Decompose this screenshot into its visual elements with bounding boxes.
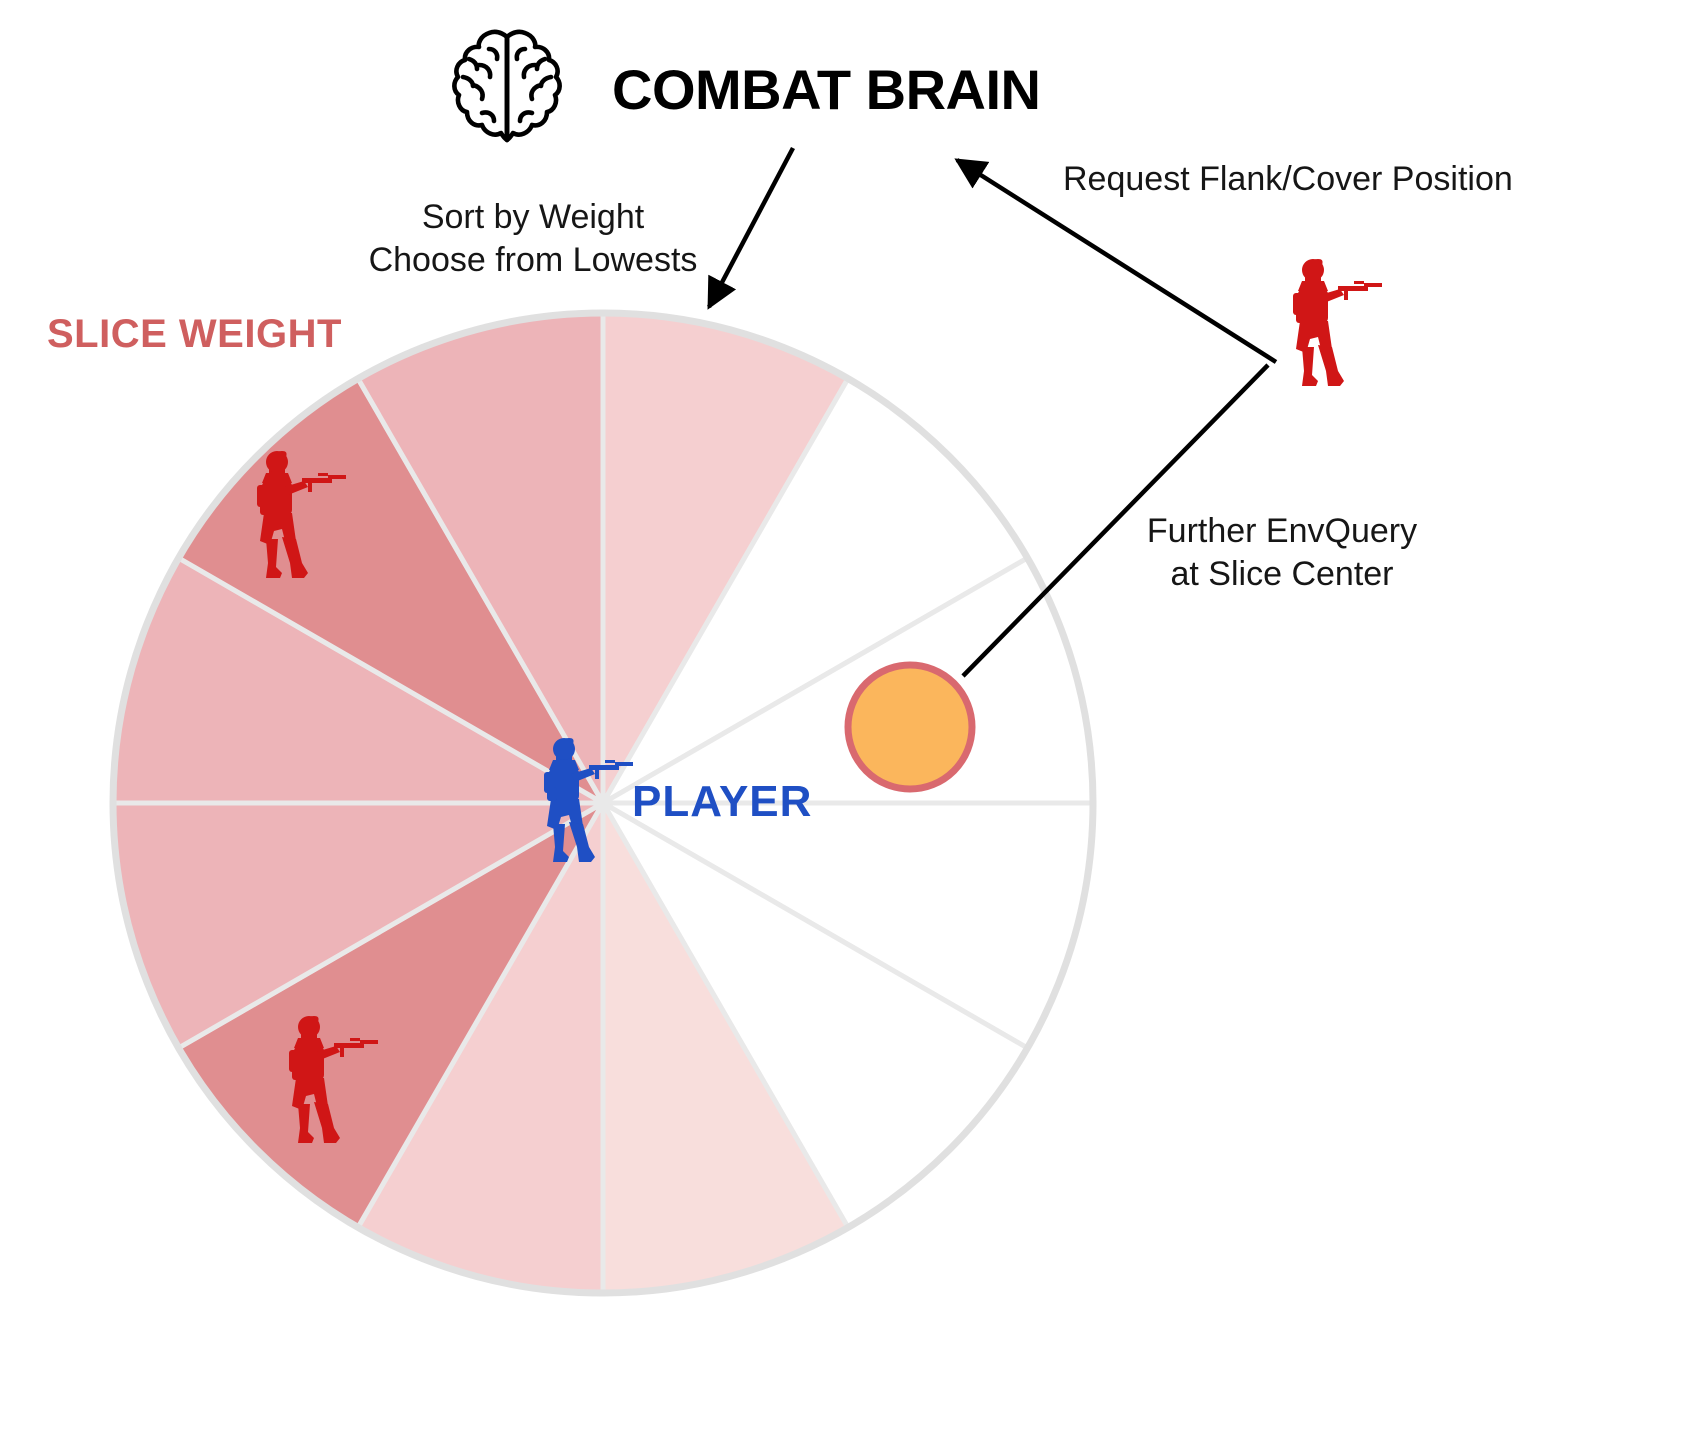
slice-weight-legend-label: SLICE WEIGHT <box>47 312 342 357</box>
envquery-point-circle[interactable] <box>848 665 972 789</box>
player-label: PLAYER <box>632 777 812 827</box>
diagram-canvas: COMBAT BRAIN Sort by Weight Choose from … <box>0 0 1685 1444</box>
request-flank-label: Request Flank/Cover Position <box>1063 158 1513 201</box>
enemy-soldier-icon <box>252 445 352 580</box>
envquery-label-line1: Further EnvQuery <box>1122 510 1442 553</box>
sort-caption-line2: Choose from Lowests <box>358 239 708 282</box>
enemy-soldier-icon <box>1288 253 1388 388</box>
envquery-label: Further EnvQuery at Slice Center <box>1122 510 1442 596</box>
brain-icon <box>447 25 567 150</box>
sort-caption-line1: Sort by Weight <box>358 196 708 239</box>
page-title: COMBAT BRAIN <box>612 62 1040 118</box>
slice-wheel <box>0 0 1685 1444</box>
sort-caption: Sort by Weight Choose from Lowests <box>358 196 708 282</box>
envquery-label-line2: at Slice Center <box>1122 553 1442 596</box>
player-soldier-icon <box>539 733 639 863</box>
enemy-soldier-icon <box>284 1010 384 1145</box>
